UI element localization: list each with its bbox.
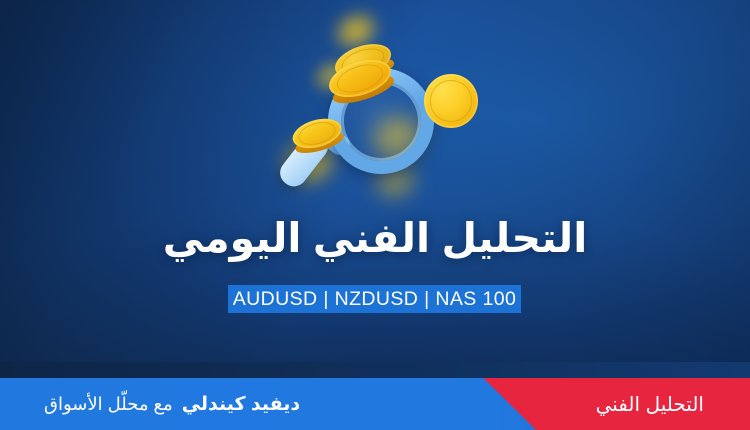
category-label: التحليل الفني [596,378,704,430]
presenter-name: ديفيد كيندلي [182,393,300,416]
banner-headline: التحليل الفني اليومي [0,216,750,261]
instruments-badge: AUDUSD | NZDUSD | NAS 100 [228,285,521,313]
presenter-credit: ديفيد كيندلي مع محلّل الأسواق [44,378,300,430]
magnifier-coins-illustration [272,0,492,210]
presenter-role: مع محلّل الأسواق [44,394,173,415]
promo-banner: التحليل الفني اليومي AUDUSD | NZDUSD | N… [0,0,750,430]
footer-divider-strip [0,362,750,378]
gold-coin-icon [424,74,478,128]
footer-bar: ديفيد كيندلي مع محلّل الأسواق التحليل ال… [0,378,750,430]
